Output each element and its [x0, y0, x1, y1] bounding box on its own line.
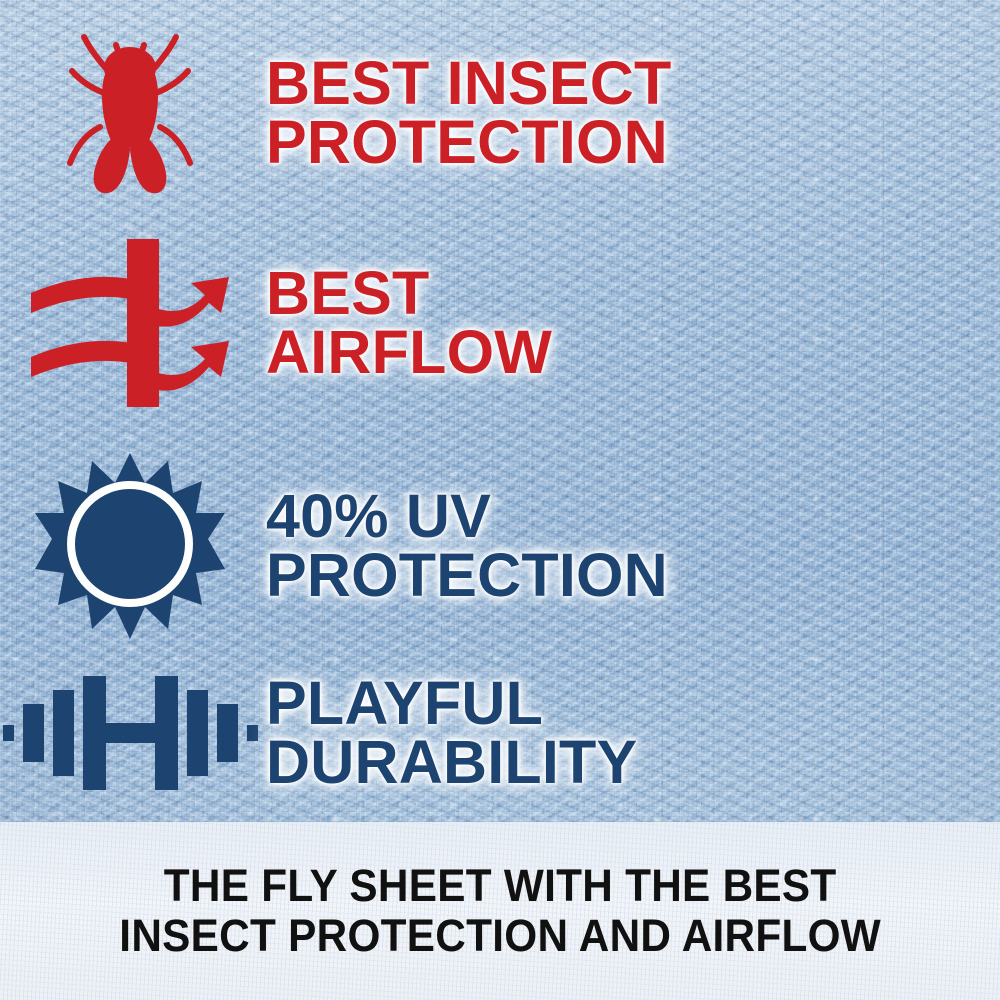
feature-row-insect-protection: BEST INSECT PROTECTION — [0, 18, 1000, 208]
feature-text-cell: BEST INSECT PROTECTION — [260, 54, 1000, 171]
feature-row-airflow: BEST AIRFLOW — [0, 228, 1000, 418]
feature-icon-cell — [0, 23, 260, 203]
feature-icon-cell — [0, 668, 260, 798]
dumbbell-icon — [3, 668, 258, 798]
caption-headline: THE FLY SHEET WITH THE BEST INSECT PROTE… — [119, 861, 881, 962]
feature-text-cell: PLAYFUL DURABILITY — [260, 674, 1000, 791]
fly-icon — [50, 23, 210, 203]
feature-icon-cell — [0, 451, 260, 641]
feature-text-cell: 40% UV PROTECTION — [260, 487, 1000, 604]
sun-uv-icon — [35, 451, 225, 641]
feature-row-durability: PLAYFUL DURABILITY — [0, 650, 1000, 815]
feature-text-cell: BEST AIRFLOW — [260, 264, 1000, 381]
feature-label-uv-protection: 40% UV PROTECTION — [266, 487, 1000, 604]
feature-row-uv-protection: 40% UV PROTECTION — [0, 448, 1000, 643]
feature-label-insect-protection: BEST INSECT PROTECTION — [266, 54, 1000, 171]
caption-bar: THE FLY SHEET WITH THE BEST INSECT PROTE… — [0, 822, 1000, 1000]
feature-label-durability: PLAYFUL DURABILITY — [266, 674, 1000, 791]
feature-label-airflow: BEST AIRFLOW — [266, 264, 1000, 381]
feature-icon-cell — [0, 233, 260, 413]
product-feature-poster: BEST INSECT PROTECTION BEST AIRFLOW — [0, 0, 1000, 1000]
airflow-icon — [23, 233, 238, 413]
